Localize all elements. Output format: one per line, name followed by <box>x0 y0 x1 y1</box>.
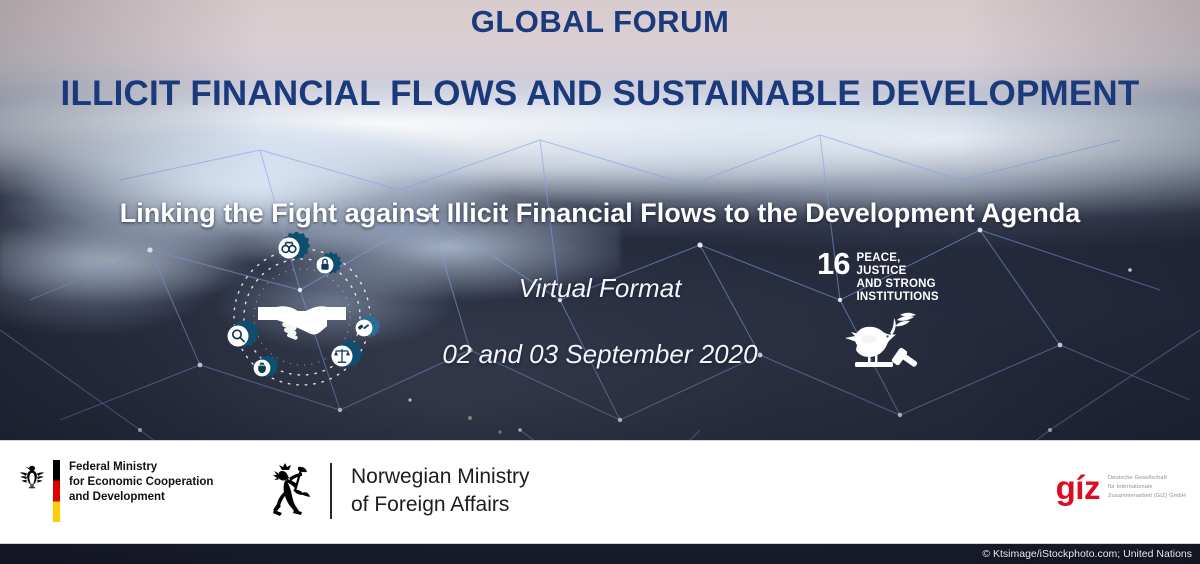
norwegian-logo-divider <box>330 463 332 519</box>
german-flag-bar <box>53 460 60 522</box>
bmz-label-line3: and Development <box>69 490 213 505</box>
giz-label-line1: Deutsche Gesellschaft <box>1108 474 1186 483</box>
partner-logo-bar: Federal Ministry for Economic Cooperatio… <box>0 440 1200 544</box>
norwegian-mfa-logo: Norwegian Ministry of Foreign Affairs <box>268 463 530 519</box>
event-banner: GLOBAL FORUM ILLICIT FINANCIAL FLOWS AND… <box>0 0 1200 564</box>
giz-label-line3: Zusammenarbeit (GIZ) GmbH <box>1108 492 1186 501</box>
bmz-label-line2: for Economic Cooperation <box>69 475 213 490</box>
bmz-label: Federal Ministry for Economic Cooperatio… <box>69 459 213 506</box>
bmz-label-line1: Federal Ministry <box>69 460 213 475</box>
image-credit: © Ktsimage/iStockphoto.com; United Natio… <box>982 548 1192 560</box>
giz-wordmark: gíz <box>1056 471 1100 504</box>
norwegian-lion-icon <box>268 463 314 519</box>
giz-logo: gíz Deutsche Gesellschaft für Internatio… <box>1056 471 1186 504</box>
bmz-logo: Federal Ministry for Economic Cooperatio… <box>18 459 213 522</box>
event-date: 02 and 03 September 2020 <box>0 339 1200 370</box>
giz-label: Deutsche Gesellschaft für Internationale… <box>1108 474 1186 501</box>
norwegian-mfa-label: Norwegian Ministry of Foreign Affairs <box>351 463 530 518</box>
giz-label-line2: für Internationale <box>1108 483 1186 492</box>
event-title-line2: ILLICIT FINANCIAL FLOWS AND SUSTAINABLE … <box>0 74 1200 114</box>
event-title-line1: GLOBAL FORUM <box>0 6 1200 39</box>
event-subtitle: Linking the Fight against Illicit Financ… <box>0 198 1200 229</box>
norwegian-mfa-label-line2: of Foreign Affairs <box>351 491 530 519</box>
german-federal-eagle-icon <box>18 461 46 489</box>
event-format: Virtual Format <box>0 273 1200 304</box>
norwegian-mfa-label-line1: Norwegian Ministry <box>351 463 530 491</box>
headline-block: GLOBAL FORUM ILLICIT FINANCIAL FLOWS AND… <box>0 6 1200 114</box>
handshake-graphic <box>216 232 388 402</box>
